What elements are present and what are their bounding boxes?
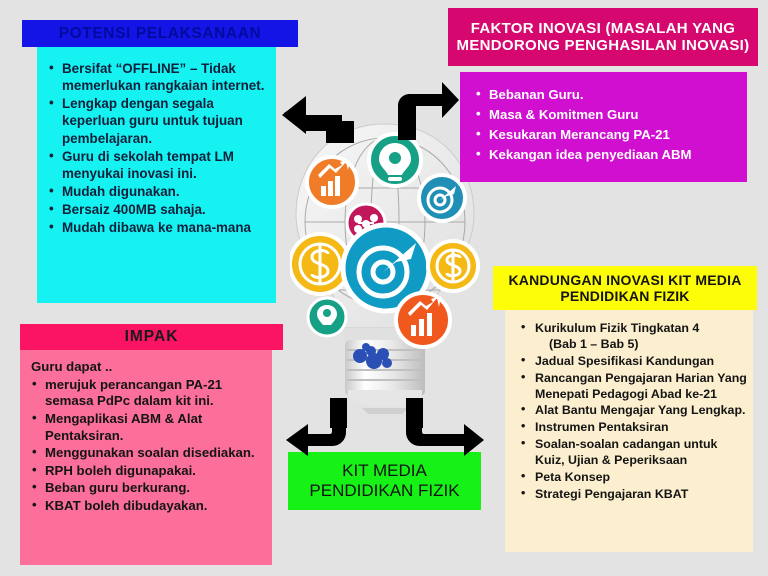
arrow-top-left-icon xyxy=(282,88,354,143)
lightbulb-graphic xyxy=(290,118,480,418)
impak-intro-text: Guru dapat .. xyxy=(31,359,266,376)
arrow-top-right-icon xyxy=(384,82,459,140)
list-item: Instrumen Pentaksiran xyxy=(519,420,747,436)
list-item: Lengkap dengan segala keperluan guru unt… xyxy=(47,95,268,146)
list-item: Mudah dibawa ke mana-mana xyxy=(47,219,268,236)
faktor-panel-body: Bebanan Guru. Masa & Komitmen Guru Kesuk… xyxy=(460,72,747,182)
list-item: merujuk perancangan PA-21 semasa PdPc da… xyxy=(30,377,266,410)
list-item-label: Kurikulum Fizik Tingkatan 4 xyxy=(535,321,699,335)
list-item: Mengaplikasi ABM & Alat Pentaksiran. xyxy=(30,411,266,444)
list-item-subline: (Bab 1 – Bab 5) xyxy=(535,337,747,353)
list-item: Bersifat “OFFLINE” – Tidak memerlukan ra… xyxy=(47,60,268,94)
kit-media-label-box: KIT MEDIA PENDIDIKAN FIZIK xyxy=(288,452,481,510)
list-item: Peta Konsep xyxy=(519,470,747,486)
kit-media-line2: PENDIDIKAN FIZIK xyxy=(309,481,459,501)
list-item: Strategi Pengajaran KBAT xyxy=(519,487,747,503)
impak-panel-title: IMPAK xyxy=(20,324,283,350)
list-item: Soalan-soalan cadangan untuk Kuiz, Ujian… xyxy=(519,437,747,469)
faktor-list: Bebanan Guru. Masa & Komitmen Guru Kesuk… xyxy=(474,85,741,165)
list-item: Menggunakan soalan disediakan. xyxy=(30,445,266,462)
potensi-panel-body: Bersifat “OFFLINE” – Tidak memerlukan ra… xyxy=(37,47,276,303)
list-item: Alat Bantu Mengajar Yang Lengkap. xyxy=(519,403,747,419)
kandungan-list: Kurikulum Fizik Tingkatan 4 (Bab 1 – Bab… xyxy=(519,321,747,503)
arrow-bottom-left-icon xyxy=(286,398,360,456)
list-item: Bebanan Guru. xyxy=(474,85,741,104)
list-item: KBAT boleh dibudayakan. xyxy=(30,498,266,515)
faktor-panel-title: FAKTOR INOVASI (MASALAH YANG MENDORONG P… xyxy=(448,8,758,66)
arrow-bottom-right-icon xyxy=(402,398,484,456)
list-item: Bersaiz 400MB sahaja. xyxy=(47,201,268,218)
list-item: Kekangan idea penyediaan ABM xyxy=(474,145,741,164)
impak-list: merujuk perancangan PA-21 semasa PdPc da… xyxy=(30,377,266,515)
list-item: Masa & Komitmen Guru xyxy=(474,105,741,124)
kit-media-line1: KIT MEDIA xyxy=(309,461,459,481)
potensi-list: Bersifat “OFFLINE” – Tidak memerlukan ra… xyxy=(47,60,268,237)
list-item: Beban guru berkurang. xyxy=(30,480,266,497)
impak-panel-body: Guru dapat .. merujuk perancangan PA-21 … xyxy=(20,350,272,565)
list-item: Rancangan Pengajaran Harian Yang Menepat… xyxy=(519,371,747,403)
infographic-canvas: POTENSI PELAKSANAAN Bersifat “OFFLINE” –… xyxy=(0,0,768,576)
list-item: Mudah digunakan. xyxy=(47,183,268,200)
potensi-panel-title: POTENSI PELAKSANAAN xyxy=(22,20,298,47)
list-item: RPH boleh digunapakai. xyxy=(30,463,266,480)
list-item: Kesukaran Merancang PA-21 xyxy=(474,125,741,144)
list-item: Guru di sekolah tempat LM menyukai inova… xyxy=(47,148,268,182)
kandungan-panel-title: KANDUNGAN INOVASI KIT MEDIA PENDIDIKAN F… xyxy=(493,266,757,310)
kandungan-panel-body: Kurikulum Fizik Tingkatan 4 (Bab 1 – Bab… xyxy=(505,310,753,552)
list-item: Kurikulum Fizik Tingkatan 4 (Bab 1 – Bab… xyxy=(519,321,747,353)
list-item: Jadual Spesifikasi Kandungan xyxy=(519,354,747,370)
